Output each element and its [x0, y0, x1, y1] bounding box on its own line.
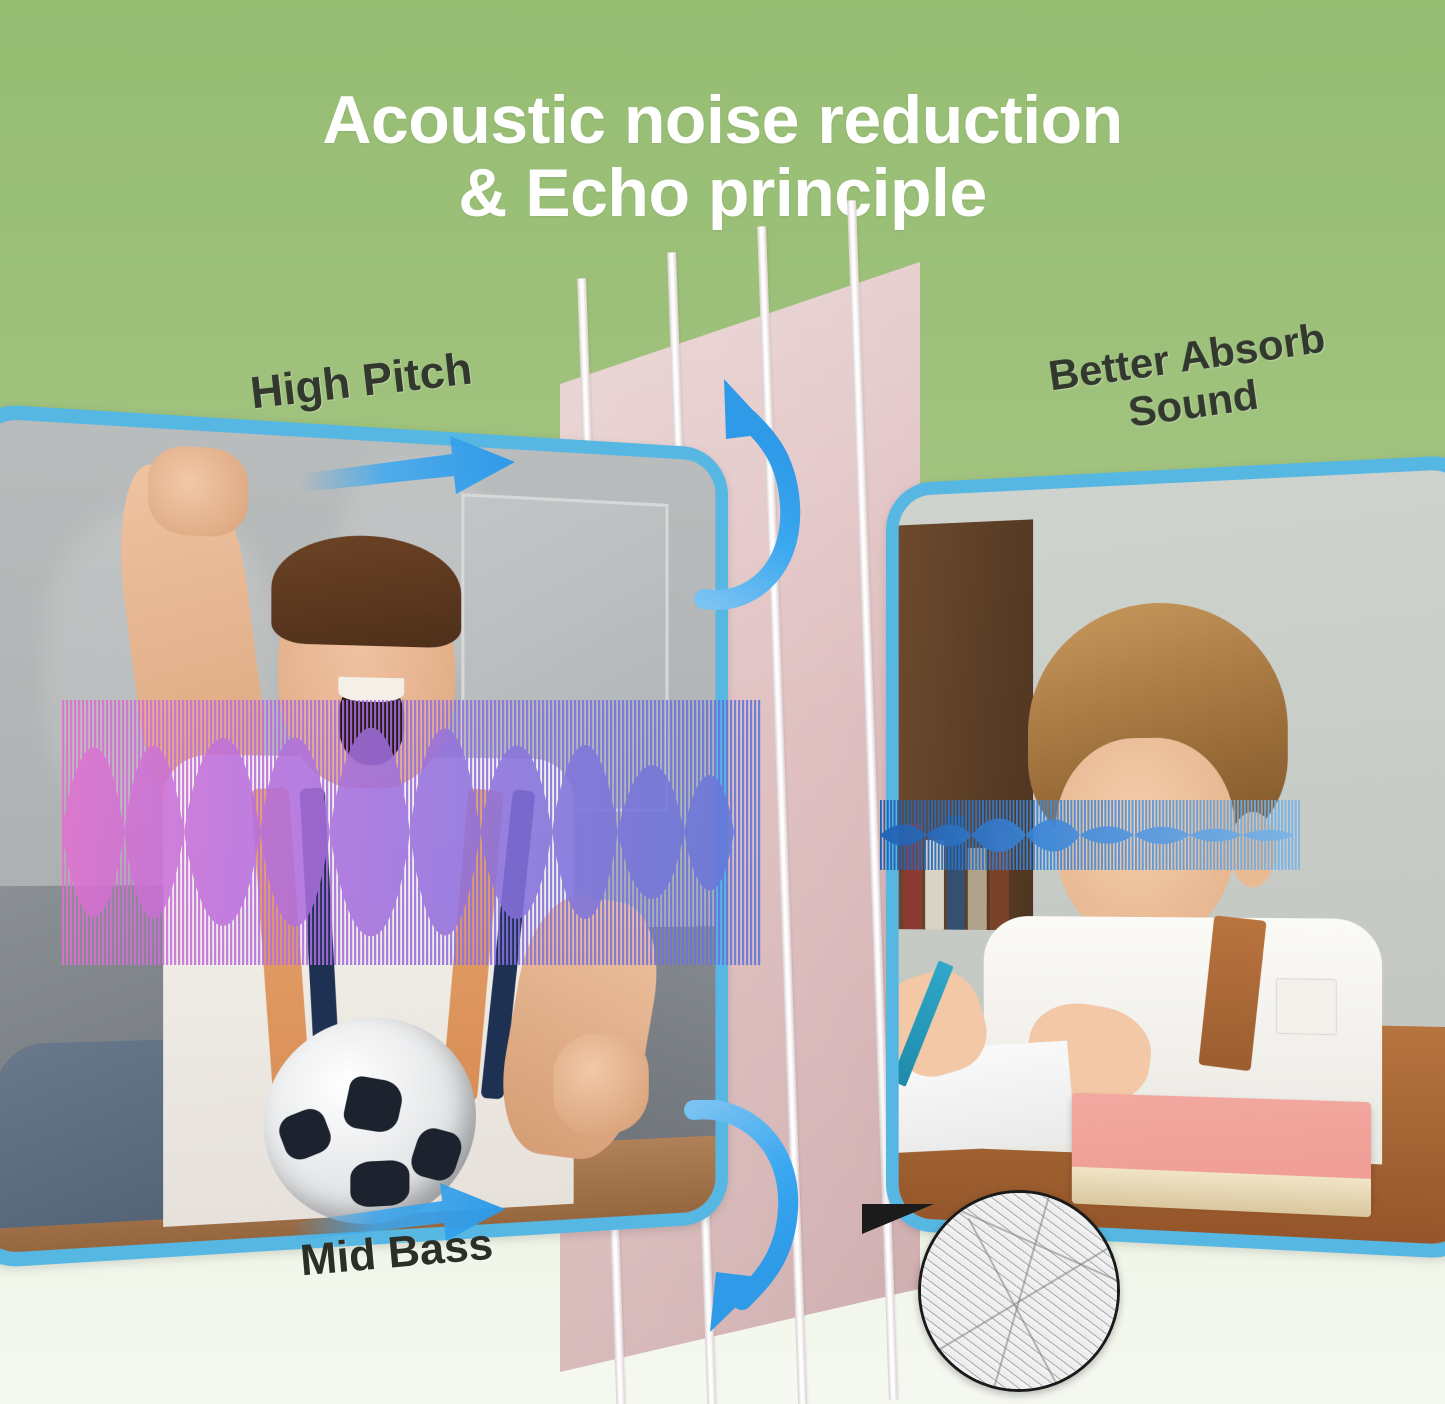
photo-right-studying-boy: [886, 454, 1445, 1260]
book-spine: [925, 840, 944, 929]
book-spine: [990, 828, 1009, 930]
page-title: Acoustic noise reduction & Echo principl…: [0, 84, 1445, 231]
fiber-texture: [921, 1193, 1117, 1389]
photo-left-shouting-man: [0, 402, 728, 1269]
infographic-canvas: Acoustic noise reduction & Echo principl…: [0, 0, 1445, 1404]
material-magnifier: [918, 1190, 1120, 1392]
boy-ear: [1230, 812, 1276, 888]
lower-fist: [553, 1033, 649, 1136]
book-spine: [904, 824, 923, 929]
raised-fist: [148, 444, 248, 538]
photo-content-right: [899, 469, 1445, 1246]
bookshelf: [899, 519, 1033, 930]
photo-content-left: [0, 418, 715, 1254]
man-teeth: [338, 677, 404, 702]
shirt-badge: [1276, 978, 1337, 1035]
book-spine: [968, 848, 987, 930]
book-spine: [947, 816, 966, 930]
